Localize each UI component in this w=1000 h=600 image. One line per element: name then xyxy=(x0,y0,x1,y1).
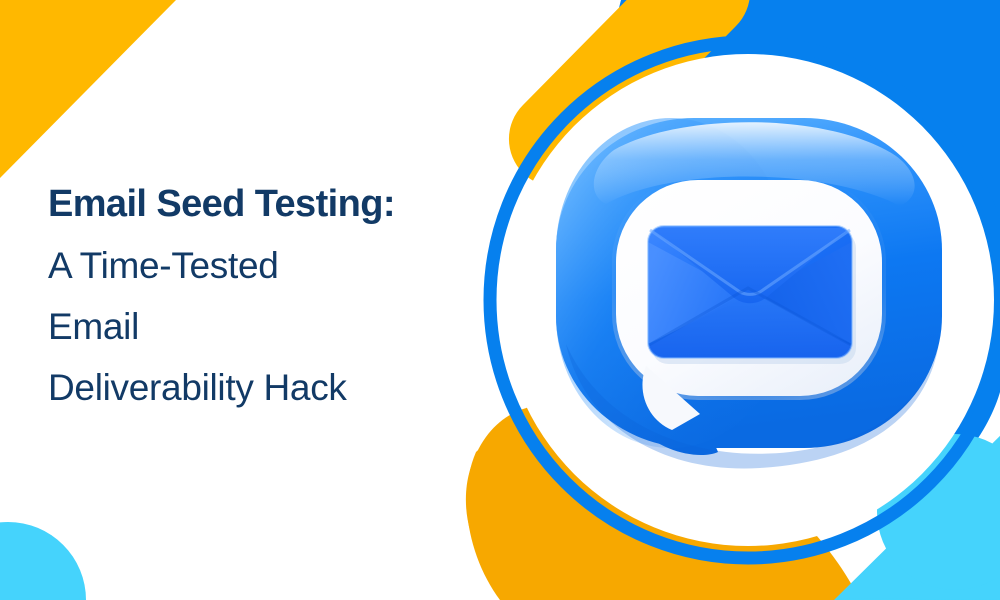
title-line-4: Deliverability Hack xyxy=(48,357,478,418)
banner-canvas: Email Seed Testing: A Time-Tested Email … xyxy=(0,0,1000,600)
title-line-2: A Time-Tested xyxy=(48,235,478,296)
title-line-1: Email Seed Testing: xyxy=(48,174,478,235)
envelope-icon xyxy=(648,226,856,364)
title-line-3: Email xyxy=(48,296,478,357)
page-title: Email Seed Testing: A Time-Tested Email … xyxy=(48,174,478,418)
